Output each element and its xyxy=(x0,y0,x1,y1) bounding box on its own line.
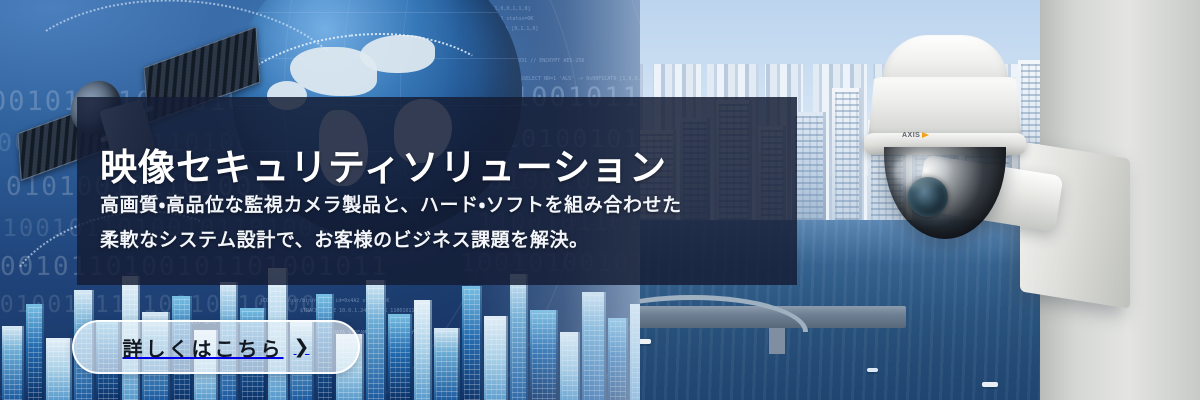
camera-lens xyxy=(908,177,948,217)
digital-building xyxy=(414,300,432,400)
camera-housing: AXIS xyxy=(860,35,1030,165)
digital-building xyxy=(560,332,580,400)
video-security-hero-banner: 0010100101101001011010 10010100101101001… xyxy=(0,0,1200,400)
code-snippet: $DATA STREAM 0x9931 // ENCRYPT AES-256 xyxy=(470,58,584,65)
code-snippet: $SELECT NR=1 'ALS' -> 0x00F1CAT0 [1,0,0,… xyxy=(520,76,640,83)
chevron-right-icon: ❯ xyxy=(294,338,310,357)
camera-body-ring xyxy=(868,77,1022,141)
code-snippet: $SELECT NR=1 'ALS' -> 0x00F1CAT0 [1,0,0,… xyxy=(392,6,530,13)
ptz-dome-security-camera: AXIS xyxy=(870,0,1200,400)
building xyxy=(792,112,826,230)
digital-building xyxy=(46,338,72,400)
code-snippet: $SELECT NR=1 'ALS' x BUFF OF 1 [0,1,1,0] xyxy=(418,26,538,33)
axis-wordmark: AXIS xyxy=(902,132,920,139)
digital-building xyxy=(366,280,386,400)
continent-shape xyxy=(360,35,435,73)
digital-building xyxy=(484,316,508,400)
digital-building xyxy=(530,310,558,400)
subheading-copy: 高画質・高品位な監視カメラ製品と、ハード・ソフトを組み合わせた 柔軟なシステム設… xyxy=(100,188,682,258)
binary-code: 1010010110100101101001 xyxy=(0,292,333,318)
code-snippet: $CONFIG: /usr/bin/net -- id=0x4A2 status… xyxy=(260,298,389,305)
bridge-pier xyxy=(769,328,785,354)
continent-shape xyxy=(290,47,377,96)
page-title: 映像セキュリティソリューション xyxy=(100,145,667,191)
code-snippet: $CONFIG: /usr/bin/net -- id=0x4A2 status… xyxy=(404,16,533,23)
axis-arrow-icon xyxy=(922,132,929,138)
digital-building xyxy=(608,318,628,400)
digital-building xyxy=(388,314,412,400)
digital-building xyxy=(582,292,606,400)
axis-brand-logo: AXIS xyxy=(902,131,929,139)
building xyxy=(832,88,862,230)
digital-building xyxy=(2,326,24,400)
digital-building xyxy=(510,274,528,400)
code-snippet: $TRACE ROUTE 10.0.1.24 :: ACK 1100101101 xyxy=(300,308,420,315)
digital-building xyxy=(462,286,482,400)
camera-dome xyxy=(884,147,1006,239)
code-snippet: $TRACE ROUTE 10.0.1.24 :: ACK 1100101101 xyxy=(386,44,506,51)
digital-building xyxy=(630,304,640,400)
learn-more-button[interactable]: 詳しくはこちら ❯ xyxy=(72,320,360,374)
digital-building xyxy=(434,328,460,400)
subheading-line-1: 高画質・高品位な監視カメラ製品と、ハード・ソフトを組み合わせた xyxy=(100,188,682,223)
learn-more-label: 詳しくはこちら xyxy=(123,333,284,362)
subheading-line-2: 柔軟なシステム設計で、お客様のビジネス課題を解決。 xyxy=(100,223,682,258)
digital-building xyxy=(26,304,44,400)
